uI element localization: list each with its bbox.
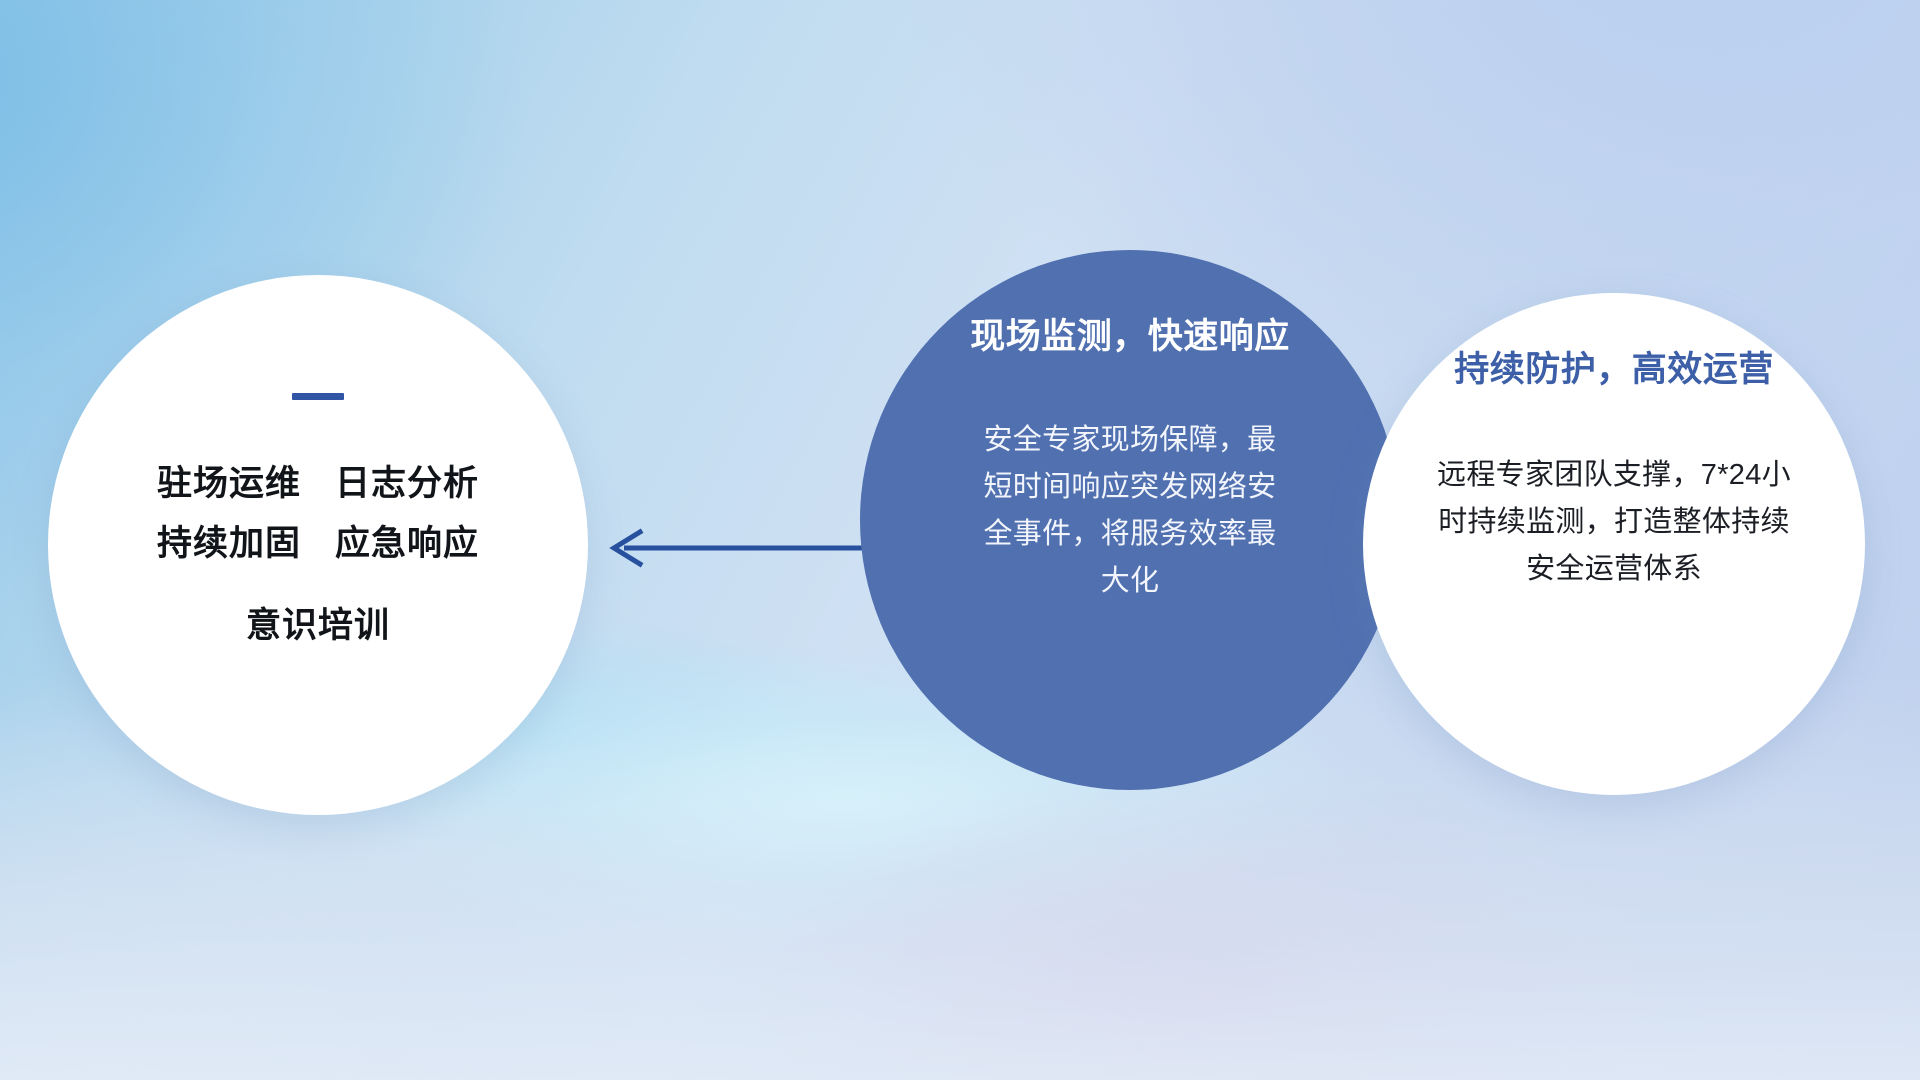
right-circle-title: 持续防护，高效运营 xyxy=(1454,341,1774,392)
keyword-item: 应急响应 xyxy=(335,514,479,574)
center-onsite-circle: 现场监测，快速响应 安全专家现场保障，最短时间响应突发网络安全事件，将服务效率最… xyxy=(860,250,1400,790)
keyword-row: 持续加固 应急响应 xyxy=(157,514,479,574)
right-operations-circle: 持续防护，高效运营 远程专家团队支撑，7*24小时持续监测，打造整体持续安全运营… xyxy=(1363,293,1865,795)
keyword-item: 持续加固 xyxy=(157,514,301,574)
keyword-item: 驻场运维 xyxy=(157,454,301,514)
keyword-item: 意识培训 xyxy=(246,596,390,656)
capability-keyword-list: 驻场运维 日志分析 持续加固 应急响应 意识培训 xyxy=(157,454,479,657)
keyword-row: 意识培训 xyxy=(246,596,390,656)
keyword-item: 日志分析 xyxy=(335,454,479,514)
left-capability-circle: 驻场运维 日志分析 持续加固 应急响应 意识培训 xyxy=(48,275,588,815)
right-circle-body: 远程专家团队支撑，7*24小时持续监测，打造整体持续安全运营体系 xyxy=(1431,452,1797,593)
keyword-row: 驻场运维 日志分析 xyxy=(157,454,479,514)
slide-canvas: 驻场运维 日志分析 持续加固 应急响应 意识培训 现场监测，快速响应 安全专家现… xyxy=(0,0,1920,1080)
center-circle-body: 安全专家现场保障，最短时间响应突发网络安全事件，将服务效率最大化 xyxy=(970,417,1290,605)
arrow-left-icon xyxy=(600,520,890,576)
center-circle-title: 现场监测，快速响应 xyxy=(970,308,1290,359)
divider-dash xyxy=(292,393,344,400)
